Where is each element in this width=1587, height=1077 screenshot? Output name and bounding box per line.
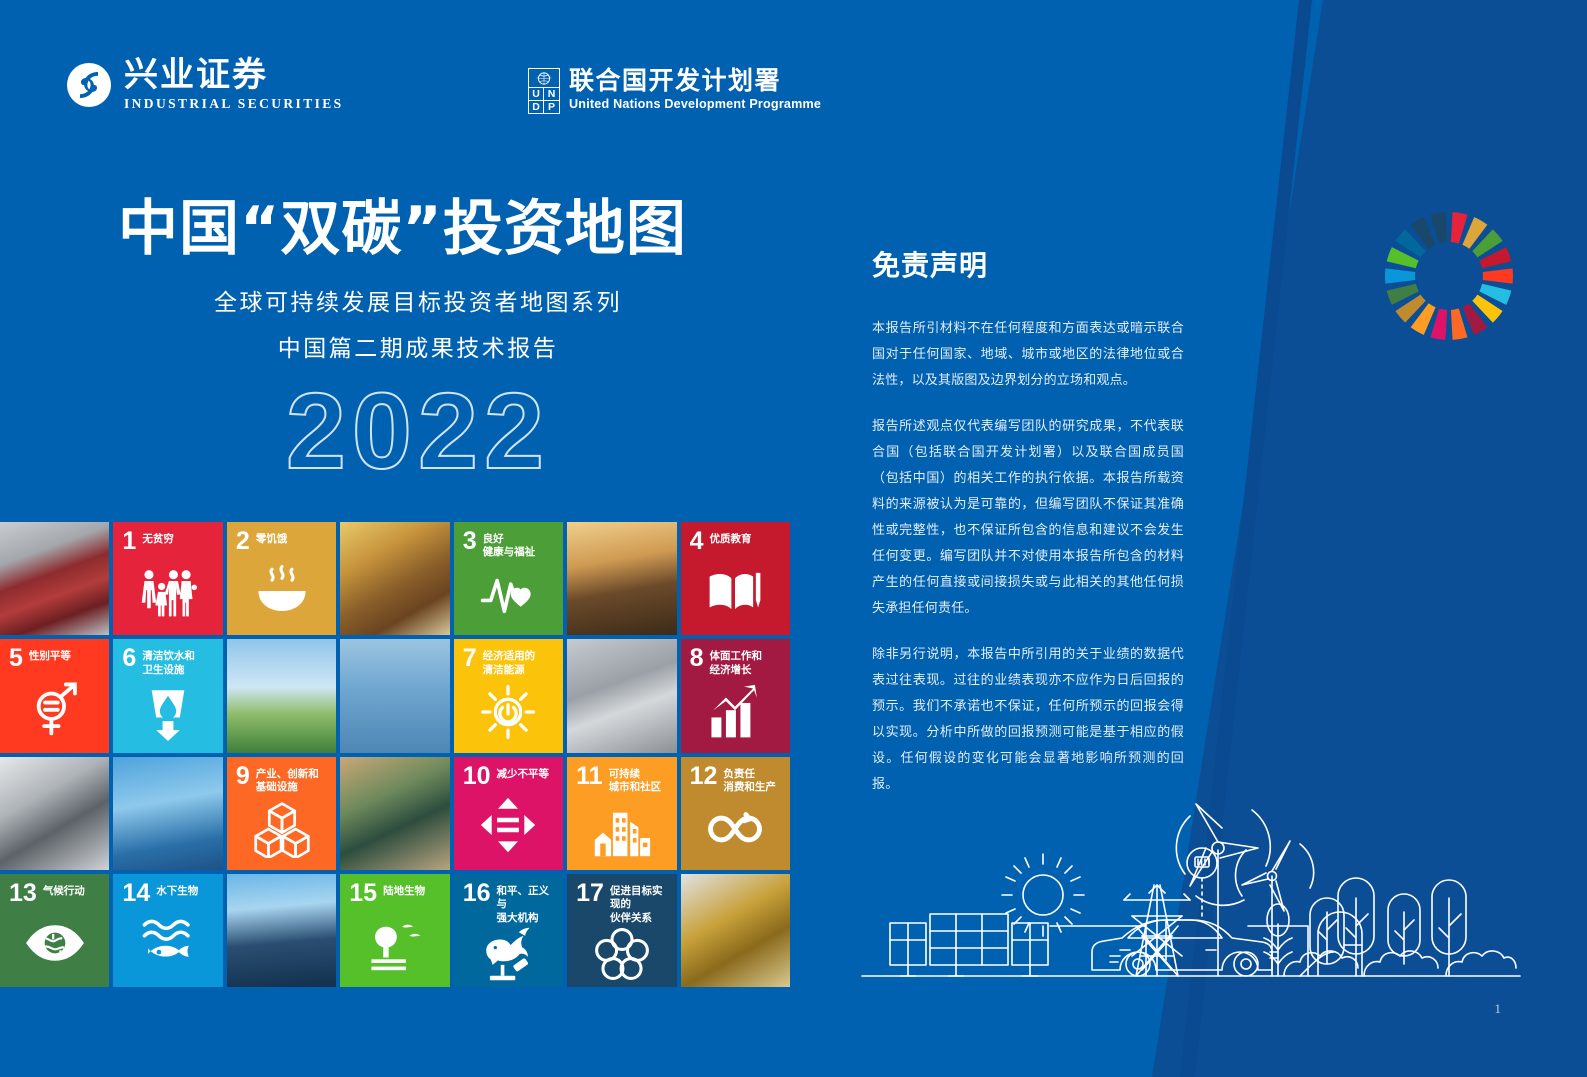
sdg-number: 11	[576, 766, 602, 788]
sdg-label: 陆地生物	[383, 883, 425, 898]
un-emblem-icon: U N D P	[528, 68, 560, 114]
sdg-number: 6	[122, 648, 136, 670]
bush-group-icon	[1284, 951, 1516, 976]
sdg-number: 17	[576, 883, 604, 905]
photo-ball-bearings	[0, 757, 109, 870]
sdg-number: 3	[463, 531, 477, 553]
sdg-tile-header: 17促进目标实现的 伙伴关系	[576, 883, 667, 925]
sdg-number: 7	[463, 648, 477, 670]
sdg-tile-2[interactable]: 2零饥饿	[227, 522, 336, 635]
wind-turbine-icon	[1176, 804, 1270, 976]
clean-energy-scene-illustration	[860, 780, 1540, 995]
undp-letter-p: P	[544, 101, 560, 114]
cubes-icon	[236, 794, 327, 869]
logo-cn-name: 兴业证券	[124, 58, 344, 94]
sdg-tile-header: 15陆地生物	[349, 883, 440, 905]
photo-power-pylon-image	[113, 757, 222, 870]
photo-water-drop	[340, 639, 449, 752]
undp-letter-n: N	[544, 88, 560, 101]
sdg-label: 性别平等	[29, 648, 71, 663]
sdg-tile-header: 9产业、创新和 基础设施	[236, 766, 327, 795]
sdg-tile-header: 13气候行动	[9, 883, 100, 905]
sdg-tile-17[interactable]: 17促进目标实现的 伙伴关系	[567, 874, 676, 987]
disclaimer-paragraph-2: 报告所述观点仅代表编写团队的研究成果，不代表联合国（包括联合国开发计划署）以及联…	[872, 414, 1184, 622]
sdg-number: 4	[690, 531, 704, 553]
photo-water-treatment	[340, 757, 449, 870]
sdg-label: 清洁饮水和 卫生设施	[142, 648, 195, 677]
sdg-number: 15	[349, 883, 377, 905]
sdg-tile-1[interactable]: 1无贫穷	[113, 522, 222, 635]
sdg-label: 良好 健康与福祉	[483, 531, 536, 560]
sdg-tile-7[interactable]: 7经济适用的 清洁能源	[454, 639, 563, 752]
industrial-securities-text: 兴业证券 INDUSTRIAL SECURITIES	[124, 58, 344, 112]
undp-text: 联合国开发计划署 United Nations Development Prog…	[569, 68, 821, 111]
sdg-tile-header: 12负责任 消费和生产	[690, 766, 781, 795]
sdg-number: 9	[236, 766, 250, 788]
sdg-tile-header: 6清洁饮水和 卫生设施	[122, 648, 213, 677]
undp-letter-u: U	[528, 88, 544, 101]
undp-letter-d: D	[528, 101, 544, 114]
year-label: 2022	[286, 377, 550, 485]
photo-watering-sprout	[567, 522, 676, 635]
sdg-tile-5[interactable]: 5性别平等	[0, 639, 109, 752]
logo-en-name: INDUSTRIAL SECURITIES	[124, 96, 344, 112]
sdg-label: 促进目标实现的 伙伴关系	[610, 883, 668, 925]
photo-cork-logs	[340, 522, 449, 635]
sdg-label: 水下生物	[156, 883, 198, 898]
header: 兴业证券 INDUSTRIAL SECURITIES U N D P	[0, 0, 1587, 150]
fish-waves-icon	[122, 904, 213, 987]
disclaimer-paragraph-3: 除非另行说明，本报告中所引用的关于业绩的数据代表过往表现。过往的业绩表现亦不应作…	[872, 642, 1184, 798]
photo-watering-sprout-image	[567, 522, 676, 635]
sdg-tile-8[interactable]: 8体面工作和 经济增长	[681, 639, 790, 752]
disclaimer-section: 免责声明 本报告所引材料不在任何程度和方面表达或暗示联合国对于任何国家、地域、城…	[872, 244, 1184, 818]
steaming-bowl-icon	[236, 553, 327, 636]
sdg-number: 8	[690, 648, 704, 670]
sdg-tile-header: 8体面工作和 经济增长	[690, 648, 781, 677]
sdg-label: 零饥饿	[256, 531, 288, 546]
sdg-tile-9[interactable]: 9产业、创新和 基础设施	[227, 757, 336, 870]
sdg-tile-10[interactable]: 10减少不平等	[454, 757, 563, 870]
sdg-tile-12[interactable]: 12负责任 消费和生产	[681, 757, 790, 870]
sdg-label: 气候行动	[43, 883, 85, 898]
sdg-wheel-segment	[1483, 268, 1513, 283]
sdg-number: 2	[236, 531, 250, 553]
photo-pouring-oil	[681, 874, 790, 987]
subtitle-edition: 中国篇二期成果技术报告	[118, 329, 718, 363]
solar-panel-icon	[890, 914, 1048, 976]
logo-industrial-securities: 兴业证券 INDUSTRIAL SECURITIES	[66, 58, 344, 112]
sdg-number: 1	[122, 531, 136, 553]
sdg-tile-11[interactable]: 11可持续 城市和社区	[567, 757, 676, 870]
page-title: 中国“双碳”投资地图	[118, 196, 718, 263]
un-globe-icon	[528, 68, 560, 88]
sdg-label: 体面工作和 经济增长	[709, 648, 762, 677]
photo-water-drop-image	[340, 639, 449, 752]
disclaimer-heading: 免责声明	[872, 244, 1184, 284]
industrial-securities-mark-icon	[66, 62, 112, 108]
sdg-tile-16[interactable]: 16和平、正义与 强大机构	[454, 874, 563, 987]
title-block: 中国“双碳”投资地图 全球可持续发展目标投资者地图系列 中国篇二期成果技术报告 …	[118, 196, 718, 485]
infinity-icon	[690, 794, 781, 869]
sdg-tile-grid: 1无贫穷 2零饥饿 3良好 健康与福祉 4优质教育 5性别平等 6清洁饮水和 卫…	[0, 522, 790, 987]
partnership-rings-icon	[576, 925, 667, 987]
sdg-label: 减少不平等	[497, 766, 550, 781]
sdg-tile-header: 1无贫穷	[122, 531, 213, 553]
photo-wind-turbines-image	[227, 639, 336, 752]
sdg-number: 12	[690, 766, 718, 788]
photo-ev-charging-image	[0, 522, 109, 635]
sdg-tile-header: 11可持续 城市和社区	[576, 766, 667, 795]
sdg-tile-header: 5性别平等	[9, 648, 100, 670]
photo-wind-turbines	[227, 639, 336, 752]
people-family-icon	[122, 553, 213, 636]
electric-car-icon	[1092, 920, 1278, 976]
photo-garbage-truck	[567, 639, 676, 752]
sdg-tile-header: 3良好 健康与福祉	[463, 531, 554, 560]
wind-turbine-small-icon	[1236, 841, 1314, 976]
sdg-tile-header: 16和平、正义与 强大机构	[463, 883, 554, 925]
photo-water-treatment-image	[340, 757, 449, 870]
sdg-label: 负责任 消费和生产	[723, 766, 776, 795]
photo-cork-logs-image	[340, 522, 449, 635]
equality-arrows-icon	[463, 787, 554, 870]
sdg-number: 14	[122, 883, 150, 905]
sdg-number: 10	[463, 766, 491, 788]
sdg-tile-header: 4优质教育	[690, 531, 781, 553]
sdg-number: 16	[463, 883, 491, 905]
sdg-label: 经济适用的 清洁能源	[483, 648, 536, 677]
undp-letter-grid: U N D P	[528, 88, 560, 114]
sdg-label: 优质教育	[709, 531, 751, 546]
photo-ev-charging	[0, 522, 109, 635]
sdg-number: 13	[9, 883, 37, 905]
sdg-tile-15[interactable]: 15陆地生物	[340, 874, 449, 987]
sdg-tile-header: 2零饥饿	[236, 531, 327, 553]
tree-group-icon	[1310, 878, 1466, 976]
logo-undp: U N D P 联合国开发计划署 United Nations Developm…	[528, 68, 821, 114]
tree-birds-icon	[349, 904, 440, 987]
sdg-color-wheel-icon	[1378, 205, 1520, 347]
page-number: 1	[1495, 1001, 1502, 1017]
sdg-label: 可持续 城市和社区	[609, 766, 662, 795]
gender-equality-icon	[9, 670, 100, 753]
undp-cn-name: 联合国开发计划署	[569, 68, 821, 94]
sdg-wheel-segment	[1385, 268, 1415, 283]
photo-garbage-truck-image	[567, 639, 676, 752]
photo-ball-bearings-image	[0, 757, 109, 870]
sdg-tile-header: 14水下生物	[122, 883, 213, 905]
sdg-label: 无贫穷	[142, 531, 174, 546]
sdg-label: 产业、创新和 基础设施	[256, 766, 319, 795]
sdg-number: 5	[9, 648, 23, 670]
sdg-tile-6[interactable]: 6清洁饮水和 卫生设施	[113, 639, 222, 752]
photo-solar-panels-image	[227, 874, 336, 987]
sdg-tile-13[interactable]: 13气候行动	[0, 874, 109, 987]
photo-power-pylon	[113, 757, 222, 870]
book-pencil-icon	[690, 553, 781, 636]
sdg-tile-3[interactable]: 3良好 健康与福祉	[454, 522, 563, 635]
sun-power-icon	[463, 677, 554, 752]
dove-gavel-icon	[463, 925, 554, 987]
growth-chart-icon	[690, 677, 781, 752]
subtitle-series: 全球可持续发展目标投资者地图系列	[118, 283, 718, 317]
sdg-tile-14[interactable]: 14水下生物	[113, 874, 222, 987]
heartbeat-icon	[463, 560, 554, 635]
eye-earth-icon	[9, 904, 100, 987]
city-buildings-icon	[576, 794, 667, 869]
photo-pouring-oil-image	[681, 874, 790, 987]
cover-page: 兴业证券 INDUSTRIAL SECURITIES U N D P	[0, 0, 1587, 1077]
undp-en-name: United Nations Development Programme	[569, 97, 821, 111]
sdg-tile-header: 7经济适用的 清洁能源	[463, 648, 554, 677]
sdg-label: 和平、正义与 强大机构	[497, 883, 555, 925]
disclaimer-paragraph-1: 本报告所引材料不在任何程度和方面表达或暗示联合国对于任何国家、地域、城市或地区的…	[872, 316, 1184, 394]
water-glass-icon	[122, 677, 213, 752]
photo-solar-panels	[227, 874, 336, 987]
sdg-tile-4[interactable]: 4优质教育	[681, 522, 790, 635]
sdg-tile-header: 10减少不平等	[463, 766, 554, 788]
year-wrapper: 2022	[118, 377, 718, 485]
